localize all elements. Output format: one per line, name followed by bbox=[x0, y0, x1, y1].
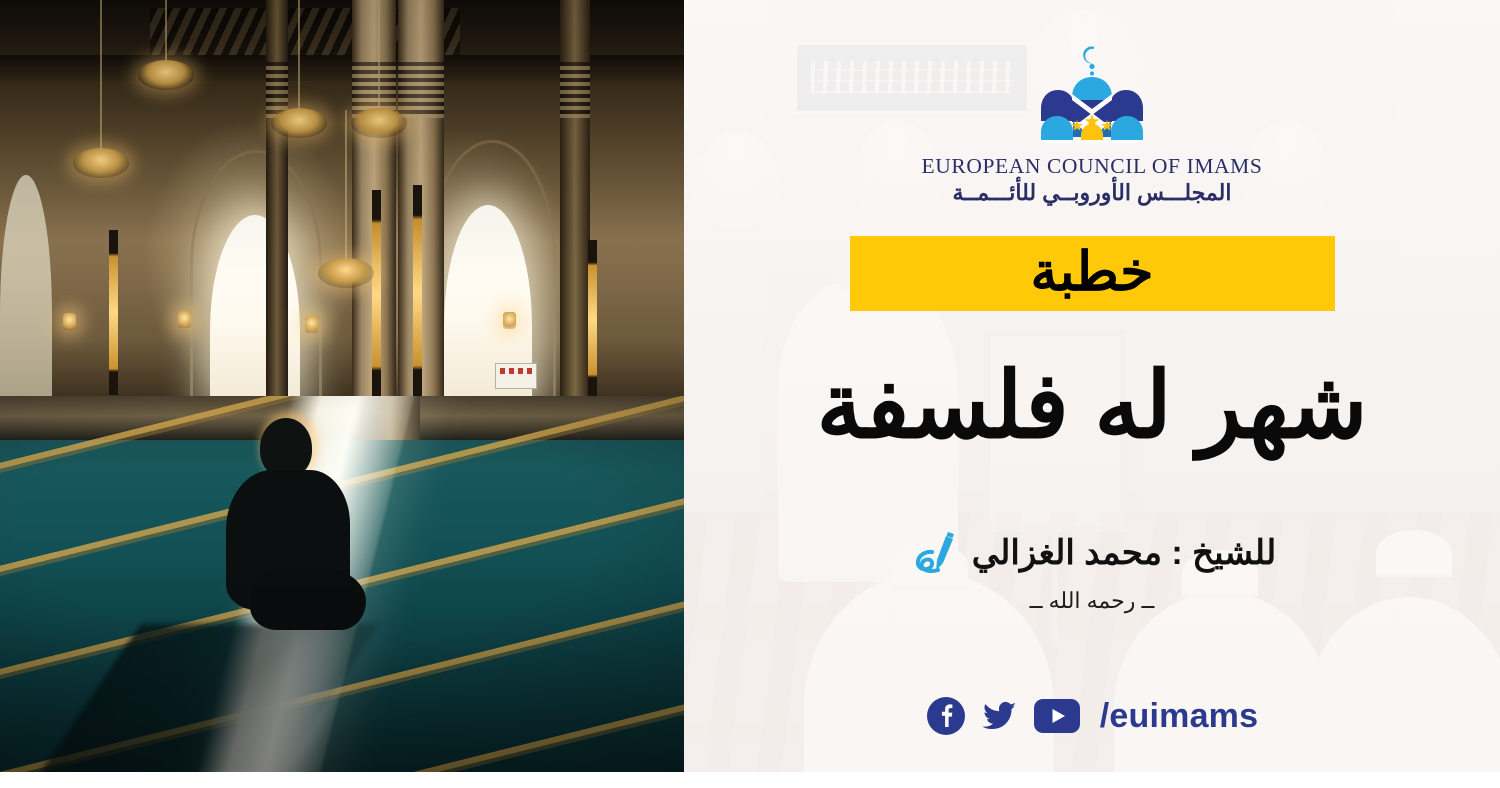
content-panel: EUROPEAN COUNCIL OF IMAMS المجلـــس الأو… bbox=[684, 0, 1500, 772]
youtube-icon[interactable] bbox=[1034, 699, 1080, 733]
organization-logo: EUROPEAN COUNCIL OF IMAMS المجلـــس الأو… bbox=[922, 44, 1263, 206]
chandelier bbox=[100, 0, 102, 160]
mosque-architecture bbox=[0, 0, 684, 400]
chandelier bbox=[378, 0, 380, 120]
page-title: شهر له فلسفة bbox=[816, 355, 1367, 458]
window-glow bbox=[0, 175, 52, 400]
facebook-icon[interactable] bbox=[926, 696, 966, 736]
mosque-photo bbox=[0, 0, 684, 772]
poster-canvas: EUROPEAN COUNCIL OF IMAMS المجلـــس الأو… bbox=[0, 0, 1500, 788]
mosque-dome-logo-icon bbox=[1033, 44, 1151, 148]
gold-pillar-strip bbox=[372, 190, 381, 400]
wall-lamp bbox=[178, 311, 191, 328]
prayer-carpet bbox=[0, 396, 684, 772]
gold-pillar-strip bbox=[109, 230, 118, 395]
information-sign bbox=[495, 363, 537, 389]
khutbah-badge: خطبة bbox=[850, 236, 1335, 311]
wall-lamp bbox=[503, 312, 516, 329]
chandelier bbox=[345, 110, 347, 270]
wall-lamp bbox=[63, 313, 76, 330]
social-handle[interactable]: /euimams bbox=[1100, 697, 1258, 736]
bottom-white-strip bbox=[0, 772, 1500, 788]
logo-arabic-name: المجلـــس الأوروبــي للأئـــمــة bbox=[953, 180, 1232, 206]
wall-lamp bbox=[305, 316, 318, 333]
logo-english-name: EUROPEAN COUNCIL OF IMAMS bbox=[922, 154, 1263, 179]
twitter-icon[interactable] bbox=[980, 696, 1020, 736]
khutbah-badge-label: خطبة bbox=[1031, 245, 1154, 299]
social-links: /euimams bbox=[684, 696, 1500, 736]
chandelier bbox=[165, 0, 167, 72]
signature-pen-icon bbox=[908, 530, 960, 576]
speaker-row: للشيخ : محمد الغزالي bbox=[908, 530, 1277, 576]
column bbox=[266, 0, 288, 400]
photo-vignette bbox=[0, 396, 684, 772]
gold-pillar-strip bbox=[413, 185, 422, 400]
column bbox=[560, 0, 590, 400]
chandelier bbox=[298, 0, 300, 120]
speaker-note: ــ رحمه الله ــ bbox=[1030, 588, 1155, 614]
gold-pillar-strip bbox=[588, 240, 597, 400]
speaker-name: للشيخ : محمد الغزالي bbox=[972, 533, 1277, 573]
